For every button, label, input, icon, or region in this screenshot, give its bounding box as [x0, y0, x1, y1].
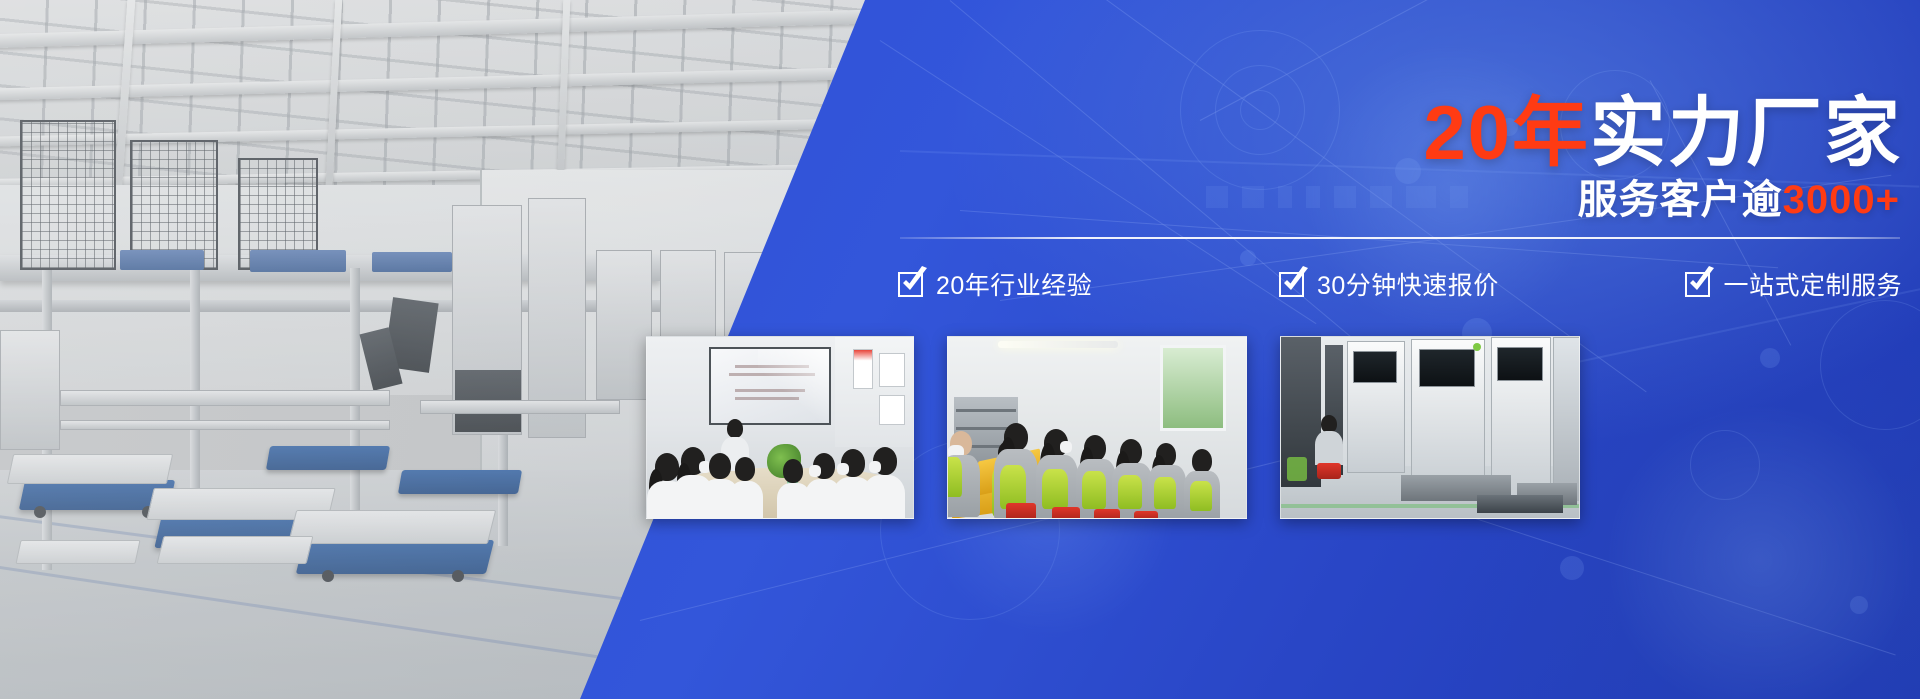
headline-highlight: 20年: [1423, 91, 1590, 176]
green-vest: [1082, 471, 1106, 509]
face-mask: [1060, 441, 1072, 453]
thumbnail-strip: [646, 336, 1906, 519]
cable-tray: [1477, 495, 1563, 513]
face-mask: [869, 461, 881, 473]
divider: [900, 237, 1900, 239]
face-mask: [837, 463, 849, 475]
green-vest: [1154, 477, 1176, 509]
control-panel: [1353, 351, 1397, 383]
poster: [879, 395, 905, 425]
person-head: [709, 453, 731, 479]
person-body: [729, 481, 763, 519]
page-subtitle: 服务客户逾3000+: [1578, 180, 1900, 220]
poster: [879, 353, 905, 387]
cnc-workshop-photo[interactable]: [1280, 336, 1580, 519]
person-head: [783, 459, 803, 483]
feature-label-1: 30分钟快速报价: [1317, 266, 1499, 302]
red-stool: [1052, 507, 1080, 519]
person-head: [727, 419, 743, 438]
promo-banner: 20年实力厂家 服务客户逾3000+ 20年行业经验 30分钟快速报价: [0, 0, 1920, 699]
page-title: 20年实力厂家: [1423, 96, 1902, 172]
green-vest: [1118, 475, 1142, 509]
check-icon: [898, 272, 923, 297]
control-panel: [1419, 349, 1475, 387]
headline-rest: 实力厂家: [1590, 91, 1902, 176]
feature-list: 20年行业经验 30分钟快速报价 一站式定制服务: [898, 262, 1902, 306]
face-mask: [809, 465, 821, 477]
feature-label-2: 一站式定制服务: [1723, 266, 1902, 302]
person-head: [1192, 449, 1212, 473]
feature-item-2: 一站式定制服务: [1685, 266, 1902, 302]
packing-line-photo[interactable]: [947, 336, 1247, 519]
cnc-machine: [1553, 337, 1580, 501]
subtitle-highlight: 3000+: [1783, 178, 1900, 222]
green-vest: [947, 457, 962, 497]
subtitle-prefix: 服务客户逾: [1578, 178, 1783, 222]
red-stool: [1317, 463, 1341, 479]
status-indicator: [1473, 343, 1481, 351]
person-head: [735, 457, 755, 481]
feature-item-1: 30分钟快速报价: [1279, 266, 1499, 302]
meeting-training-photo[interactable]: [646, 336, 914, 519]
check-icon: [1279, 272, 1304, 297]
ceiling-lamp: [998, 341, 1118, 348]
person-body: [863, 475, 905, 519]
poster: [853, 349, 873, 389]
green-vest: [1190, 481, 1212, 511]
red-stool: [1134, 511, 1158, 519]
check-icon: [1685, 272, 1710, 297]
person-body: [777, 483, 811, 519]
projector-screen: [709, 347, 831, 425]
red-stool: [1094, 509, 1120, 519]
window: [1160, 345, 1226, 431]
green-vest: [1042, 469, 1068, 509]
feature-label-0: 20年行业经验: [936, 266, 1092, 302]
control-panel: [1497, 347, 1543, 381]
red-stool: [1006, 503, 1036, 519]
green-bin: [1287, 457, 1307, 481]
feature-item-0: 20年行业经验: [898, 266, 1092, 302]
person-body: [1315, 431, 1343, 465]
